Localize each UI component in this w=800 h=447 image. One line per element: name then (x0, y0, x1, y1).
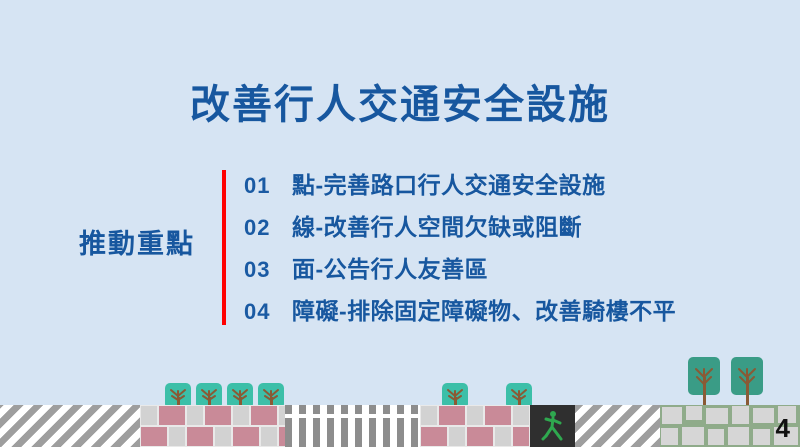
list-item-number: 04 (244, 299, 292, 325)
pavement-pink-tiles (140, 405, 285, 447)
list-item-label: 面-公告行人友善區 (292, 250, 488, 284)
list-item-number: 02 (244, 215, 292, 241)
walking-person-icon (540, 410, 566, 442)
list-item: 02 線-改善行人空間欠缺或阻斷 (244, 208, 784, 250)
page-title: 改善行人交通安全設施 (0, 72, 800, 130)
list-item-label: 線-改善行人空間欠缺或阻斷 (292, 208, 582, 242)
key-points-list: 01 點-完善路口行人交通安全設施 02 線-改善行人空間欠缺或阻斷 03 面-… (244, 166, 784, 334)
zebra-crossing (285, 405, 420, 447)
pavement-diagonal-hatch (575, 405, 660, 447)
section-label: 推動重點 (62, 222, 212, 261)
pavement-diagonal-hatch (0, 405, 140, 447)
list-item: 01 點-完善路口行人交通安全設施 (244, 166, 784, 208)
street-scene-illustration: 4 (0, 345, 800, 447)
red-divider-bar (222, 170, 226, 325)
list-item-label: 點-完善路口行人交通安全設施 (292, 166, 606, 200)
list-item: 03 面-公告行人友善區 (244, 250, 784, 292)
pavement-strip (0, 405, 800, 447)
list-item: 04 障礙-排除固定障礙物、改善騎樓不平 (244, 292, 784, 334)
list-item-label: 障礙-排除固定障礙物、改善騎樓不平 (292, 292, 676, 326)
pavement-pink-tiles (420, 405, 530, 447)
list-item-number: 03 (244, 257, 292, 283)
pedestrian-signal-icon (530, 405, 575, 447)
list-item-number: 01 (244, 173, 292, 199)
page-number: 4 (776, 413, 790, 444)
slide: 改善行人交通安全設施 推動重點 01 點-完善路口行人交通安全設施 02 線-改… (0, 0, 800, 447)
